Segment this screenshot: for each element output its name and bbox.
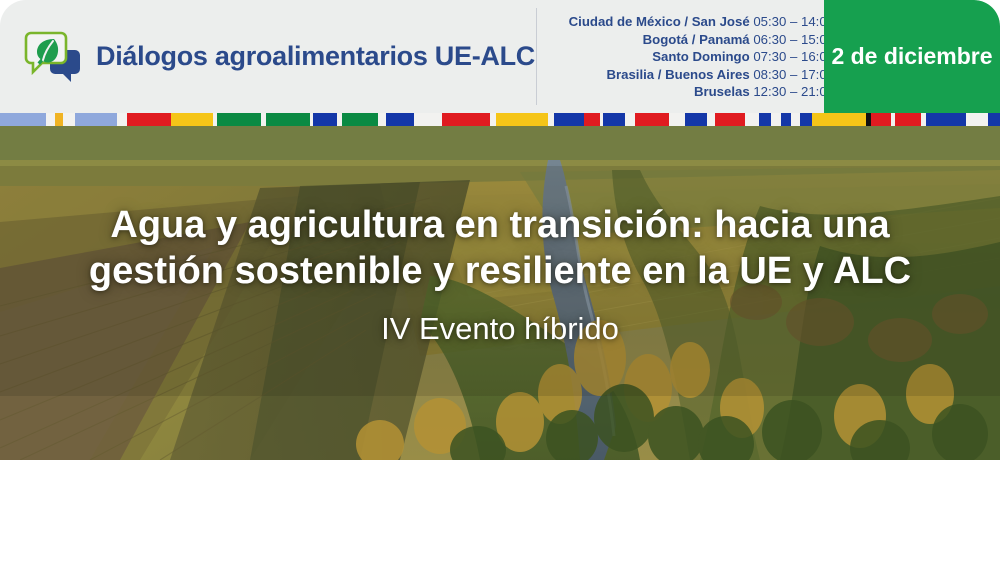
flag-chip [715, 113, 745, 126]
flag-chip [55, 113, 63, 126]
flag-chip [46, 113, 55, 126]
hero-title: Agua y agricultura en transición: hacia … [50, 202, 950, 294]
flag-chip [554, 113, 584, 126]
flag-chip [745, 113, 759, 126]
flag-chip [926, 113, 966, 126]
timezone-row: Santo Domingo 07:30 – 16:00 [548, 48, 834, 66]
flag-chip [759, 113, 771, 126]
flag-chip [988, 113, 1000, 126]
flag-chip [342, 113, 378, 126]
timezone-time: 08:30 – 17:00 [753, 67, 834, 82]
flag-chip [895, 113, 921, 126]
flag-chip [378, 113, 386, 126]
flag-chip [75, 113, 117, 126]
flag-chip [414, 113, 442, 126]
flag-chip [635, 113, 669, 126]
event-date: 2 de diciembre [831, 43, 992, 70]
flag-chip [127, 113, 171, 126]
timezone-city: Bruselas [694, 84, 750, 99]
timezone-city: Ciudad de México / San José [569, 14, 750, 29]
flag-chip [812, 113, 866, 126]
timezone-time: 06:30 – 15:00 [753, 32, 834, 47]
flag-ribbon [0, 113, 1000, 126]
event-banner: Diálogos agroalimentarios UE-ALC Ciudad … [0, 0, 1000, 562]
flag-chip [966, 113, 988, 126]
flag-chip [781, 113, 791, 126]
event-date-block: 2 de diciembre [824, 0, 1000, 113]
speech-bubbles-leaf-icon [24, 28, 82, 86]
flag-chip [266, 113, 310, 126]
flag-chip [625, 113, 635, 126]
flag-chip [63, 113, 75, 126]
timezone-city: Bogotá / Panamá [643, 32, 750, 47]
timezone-row: Bogotá / Panamá 06:30 – 15:00 [548, 31, 834, 49]
header-divider [536, 8, 537, 105]
timezone-row: Ciudad de México / San José 05:30 – 14:0… [548, 13, 834, 31]
banner-footer: Global Gateway AL-INVEST Verde [0, 460, 1000, 562]
flag-chip [442, 113, 490, 126]
flag-chip [386, 113, 414, 126]
flag-chip [0, 113, 46, 126]
flag-chip [669, 113, 685, 126]
flag-chip [771, 113, 781, 126]
flag-chip [496, 113, 548, 126]
flag-chip [707, 113, 715, 126]
flag-chip [685, 113, 707, 126]
flag-chip [217, 113, 261, 126]
timezone-time: 05:30 – 14:00 [753, 14, 834, 29]
brand-block: Diálogos agroalimentarios UE-ALC [0, 0, 508, 113]
hero-subtitle: IV Evento híbrido [381, 310, 619, 348]
flag-chip [117, 113, 127, 126]
timezone-city: Santo Domingo [652, 49, 749, 64]
flag-chip [800, 113, 812, 126]
timezone-city: Brasilia / Buenos Aires [606, 67, 749, 82]
timezone-row: Bruselas 12:30 – 21:00 [548, 83, 834, 101]
flag-chip [584, 113, 600, 126]
flag-chip [313, 113, 337, 126]
timezone-row: Brasilia / Buenos Aires 08:30 – 17:00 [548, 66, 834, 84]
timezone-list: Ciudad de México / San José 05:30 – 14:0… [548, 13, 834, 101]
timezone-time: 12:30 – 21:00 [753, 84, 834, 99]
flag-chip [791, 113, 800, 126]
timezone-time: 07:30 – 16:00 [753, 49, 834, 64]
banner-header: Diálogos agroalimentarios UE-ALC Ciudad … [0, 0, 1000, 113]
flag-chip [171, 113, 213, 126]
hero-photo: Agua y agricultura en transición: hacia … [0, 126, 1000, 460]
page-title: Diálogos agroalimentarios UE-ALC [96, 41, 535, 72]
flag-chip [603, 113, 625, 126]
flag-chip [871, 113, 891, 126]
